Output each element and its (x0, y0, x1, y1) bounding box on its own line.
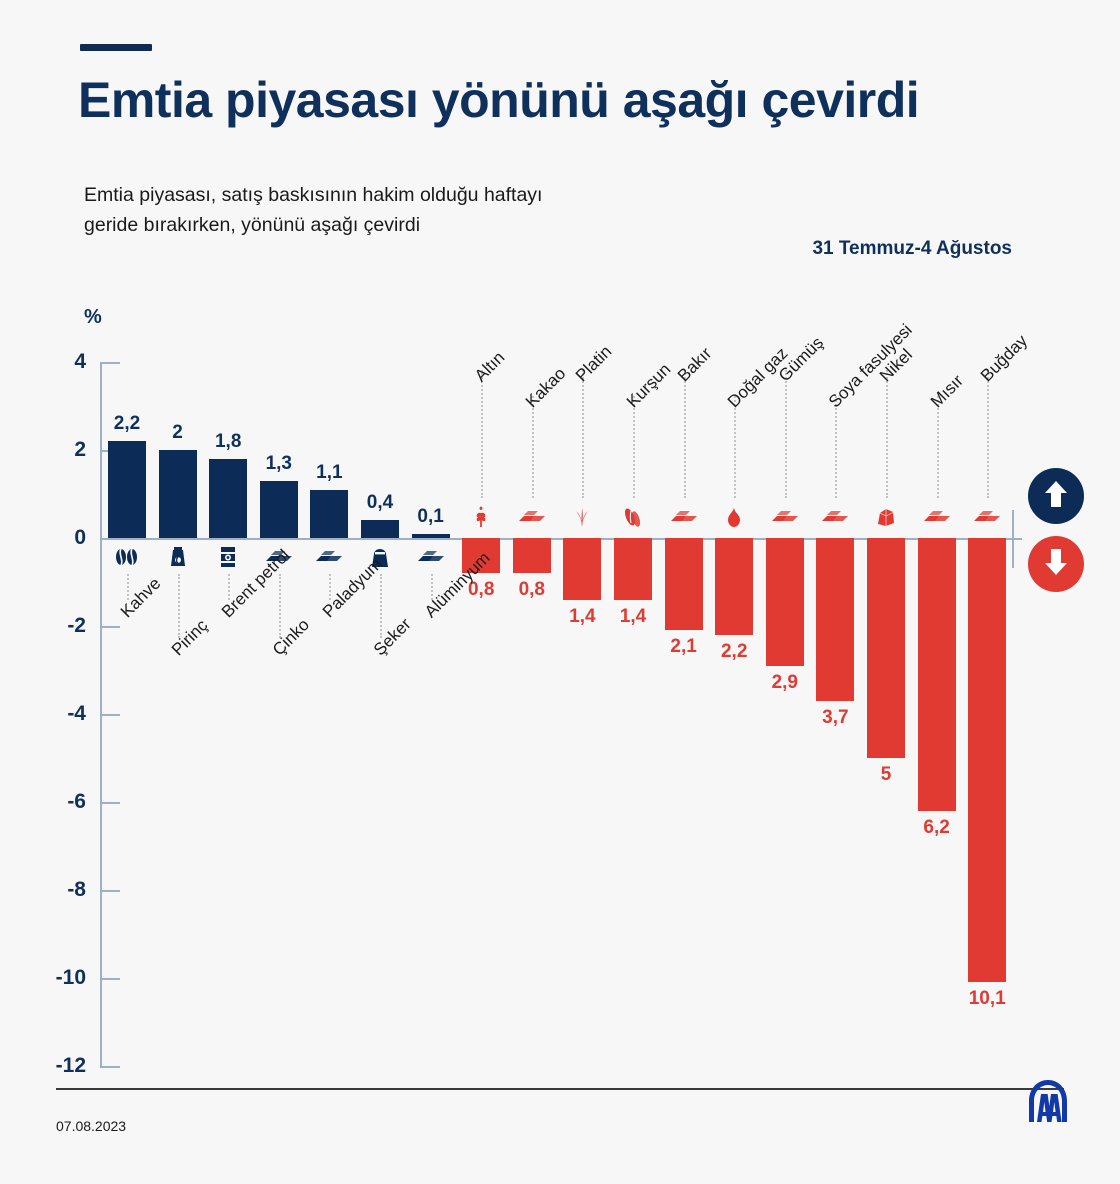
title-rule-mark (80, 44, 152, 51)
period-label: 31 Temmuz-4 Ağustos (812, 238, 1012, 260)
bar-value-label: 2,9 (755, 672, 815, 694)
arrow-up-badge (1028, 468, 1084, 524)
footer-date: 07.08.2023 (56, 1118, 126, 1134)
bar-çinko (260, 481, 298, 538)
y-axis-tick-label: -6 (20, 790, 86, 814)
arrow-down-badge (1028, 536, 1084, 592)
metal-ingot-icon (918, 504, 956, 530)
bar-kurşun (614, 538, 652, 600)
leader-line (785, 370, 787, 498)
metal-ingot-icon (412, 544, 450, 570)
metal-ingot-icon (665, 504, 703, 530)
y-axis-tick-label: 0 (20, 526, 86, 550)
bar-alüminyum (412, 534, 450, 538)
y-axis-tick (100, 626, 120, 628)
category-label-kahve: Kahve (117, 574, 165, 622)
subtitle-line-1: Emtia piyasası, satış baskısının hakim o… (84, 180, 724, 210)
bar-kakao (513, 538, 551, 573)
bar-value-label: 0,8 (502, 579, 562, 601)
wheat-ear-icon (462, 504, 500, 530)
leader-line (937, 396, 939, 498)
infographic-page: Emtia piyasası yönünü aşağı çevirdi Emti… (0, 0, 1120, 1184)
leader-line (886, 370, 888, 498)
bar-value-label: 10,1 (957, 988, 1017, 1010)
page-title: Emtia piyasası yönünü aşağı çevirdi (78, 72, 1078, 128)
metal-ingot-icon (513, 504, 551, 530)
gas-flame-icon (715, 504, 753, 530)
coffee-bean-icon (108, 544, 146, 570)
subtitle-line-2: geride bırakırken, yönünü aşağı çevirdi (84, 210, 724, 240)
leader-line (481, 370, 483, 498)
y-axis-tick-label: -8 (20, 878, 86, 902)
bar-paladyum (310, 490, 348, 538)
bar-value-label: 1,1 (299, 462, 359, 484)
bar-value-label: 1,4 (603, 606, 663, 628)
y-axis-tick-label: 4 (20, 350, 86, 374)
leader-line (279, 574, 281, 638)
bar-value-label: 6,2 (907, 817, 967, 839)
bar-soya-fasulyesi (816, 538, 854, 701)
category-label-pirinç: Pirinç (167, 616, 211, 660)
y-axis-tick-label: 2 (20, 438, 86, 462)
y-axis-tick (100, 802, 120, 804)
leader-line (380, 574, 382, 638)
leader-line (178, 574, 180, 638)
bar-doğal-gaz (715, 538, 753, 635)
y-axis-tick-label: -12 (20, 1054, 86, 1078)
category-label-çinko: Çinko (269, 615, 314, 660)
bar-platin (563, 538, 601, 600)
nickel-ore-icon (867, 504, 905, 530)
leader-line (987, 370, 989, 498)
metal-ingot-icon (310, 544, 348, 570)
y-axis-tick-label: -2 (20, 614, 86, 638)
category-label-şeker: Şeker (370, 614, 416, 660)
y-axis-tick (100, 362, 120, 364)
y-axis-tick-label: -10 (20, 966, 86, 990)
page-subtitle: Emtia piyasası, satış baskısının hakim o… (84, 180, 724, 240)
bar-value-label: 0,1 (401, 506, 461, 528)
peanut-icon (614, 504, 652, 530)
category-label-platin: Platin (572, 342, 616, 386)
metal-ingot-icon (968, 504, 1006, 530)
leader-line (684, 370, 686, 498)
bar-value-label: 2,2 (704, 641, 764, 663)
y-axis-tick-label: -4 (20, 702, 86, 726)
metal-ingot-icon (766, 504, 804, 530)
arrow-down-icon (1043, 547, 1069, 582)
bar-pirinç (159, 450, 197, 538)
y-axis-tick (100, 714, 120, 716)
bar-nikel (867, 538, 905, 758)
leader-line (835, 396, 837, 498)
bar-brent-petrol (209, 459, 247, 538)
y-axis-tick (100, 890, 120, 892)
rice-bag-icon (159, 544, 197, 570)
bar-chart: % 420-2-4-6-8-10-12 2,221,81,31,10,40,10… (0, 300, 1120, 1070)
bar-gümüş (766, 538, 804, 666)
leader-line (734, 396, 736, 498)
arrow-up-icon (1043, 479, 1069, 514)
bar-şeker (361, 520, 399, 538)
leader-line (582, 370, 584, 498)
category-label-mısır: Mısır (926, 371, 967, 412)
bar-bakır (665, 538, 703, 630)
leader-line (532, 396, 534, 498)
category-label-bakır: Bakır (673, 344, 715, 386)
bar-kahve (108, 441, 146, 538)
oil-barrel-icon (209, 544, 247, 570)
bar-mısır (918, 538, 956, 811)
y-axis-unit-label: % (84, 306, 102, 329)
category-label-kakao: Kakao (522, 364, 570, 412)
bar-value-label: 1,8 (198, 431, 258, 453)
category-label-kurşun: Kurşun (623, 360, 675, 412)
y-axis-tick (100, 1066, 120, 1068)
category-label-altın: Altın (471, 348, 509, 386)
bar-value-label: 5 (856, 764, 916, 786)
aa-logo (1026, 1078, 1070, 1124)
metal-ingot-icon (816, 504, 854, 530)
bar-value-label: 3,7 (805, 707, 865, 729)
category-label-buğday: Buğday (977, 331, 1032, 386)
bar-buğday (968, 538, 1006, 982)
footer-divider (56, 1088, 1064, 1090)
y-axis-tick (100, 978, 120, 980)
leader-line (633, 396, 635, 498)
cocoa-plant-icon (563, 504, 601, 530)
